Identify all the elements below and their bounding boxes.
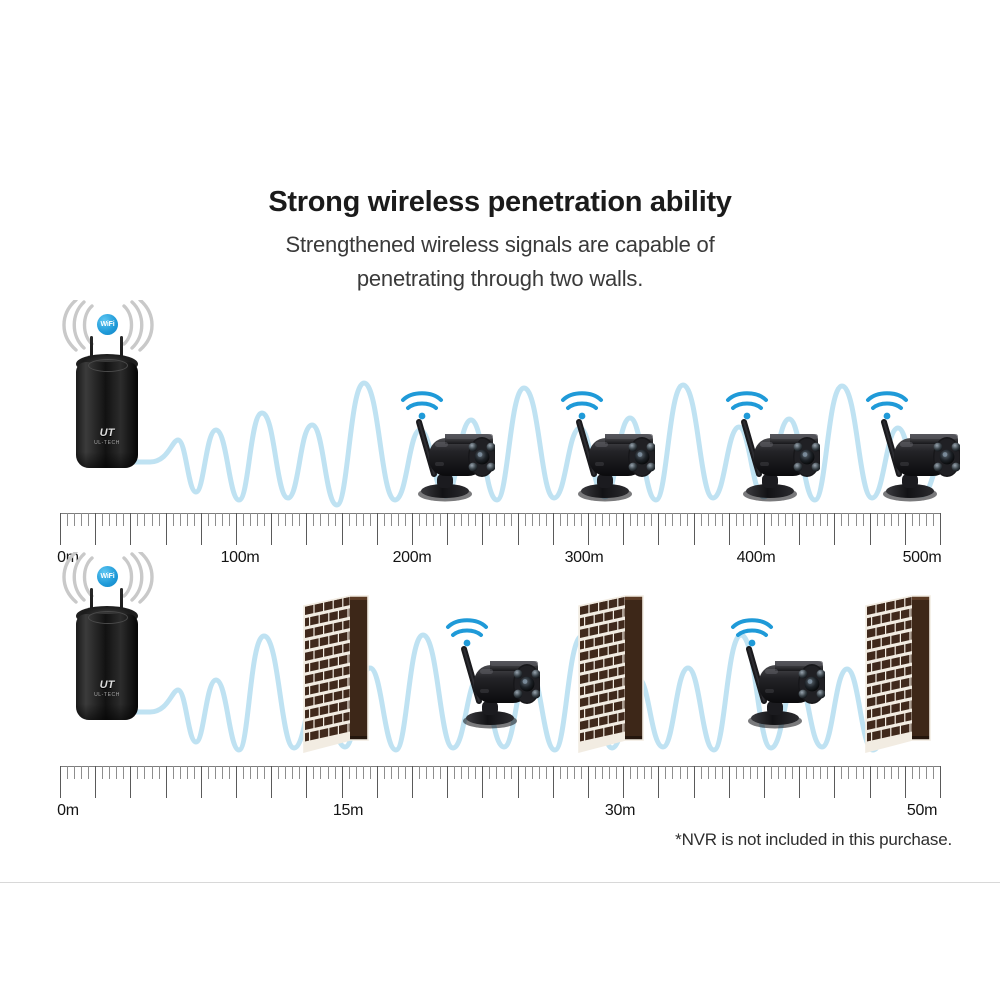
- ruler-tick-minor: [370, 766, 371, 779]
- ruler-rail: [60, 766, 940, 767]
- ruler-tick-minor: [88, 513, 89, 526]
- ruler-label: 0m: [57, 802, 79, 820]
- cameras-row2-layer: [0, 0, 1000, 1000]
- ruler-tick-minor: [264, 766, 265, 779]
- ruler-tick-minor: [778, 766, 779, 779]
- ruler-tick-minor: [257, 766, 258, 779]
- ruler-tick-minor: [637, 766, 638, 779]
- ruler-tick-minor: [102, 766, 103, 779]
- ruler-tick-minor: [665, 766, 666, 779]
- ruler-tick-minor: [806, 766, 807, 779]
- nvr-top-ring: [88, 359, 128, 372]
- ruler-tick-major: [553, 513, 554, 545]
- ruler-tick-minor: [841, 766, 842, 779]
- ruler-tick-minor: [637, 513, 638, 526]
- ruler-tick-minor: [137, 513, 138, 526]
- ruler-tick-minor: [567, 513, 568, 526]
- nvr-bottom-shadow: [76, 452, 138, 468]
- nvr-brand-sublabel: UL-TECH: [76, 440, 138, 446]
- ruler-tick-major: [940, 766, 941, 798]
- ruler-tick-minor: [806, 513, 807, 526]
- ruler-tick-minor: [574, 513, 575, 526]
- ruler-tick-minor: [926, 766, 927, 779]
- ruler-tick-minor: [827, 513, 828, 526]
- ruler-tick-minor: [926, 513, 927, 526]
- ruler-tick-minor: [187, 513, 188, 526]
- ruler-tick-minor: [848, 513, 849, 526]
- ruler-tick-minor: [701, 513, 702, 526]
- ruler-tick-minor: [229, 766, 230, 779]
- ruler-tick-minor: [229, 513, 230, 526]
- ruler-tick-minor: [194, 766, 195, 779]
- bottom-divider: [0, 882, 1000, 883]
- subtitle-line-2: penetrating through two walls.: [0, 262, 1000, 296]
- ruler-tick-minor: [496, 766, 497, 779]
- ruler-tick-minor: [856, 766, 857, 779]
- nvr-device-row1: WiFi UT UL-TECH: [58, 300, 158, 500]
- ruler-tick-minor: [187, 766, 188, 779]
- ruler-tick-minor: [919, 766, 920, 779]
- ruler-tick-minor: [680, 513, 681, 526]
- ruler-tick-minor: [88, 766, 89, 779]
- ruler-tick-minor: [152, 513, 153, 526]
- ruler-tick-minor: [475, 766, 476, 779]
- ruler-label: 200m: [393, 549, 432, 567]
- ruler-tick-minor: [222, 766, 223, 779]
- ruler-tick-major: [729, 513, 730, 545]
- ruler-tick-minor: [912, 513, 913, 526]
- wifi-badge: WiFi: [97, 314, 118, 335]
- ruler-tick-minor: [504, 766, 505, 779]
- ruler-tick-minor: [215, 766, 216, 779]
- ruler-tick-minor: [144, 513, 145, 526]
- ruler-tick-minor: [884, 766, 885, 779]
- ruler-tick-minor: [243, 766, 244, 779]
- ruler-tick-minor: [454, 766, 455, 779]
- ruler-tick-minor: [672, 766, 673, 779]
- ruler-tick-minor: [152, 766, 153, 779]
- ruler-tick-minor: [81, 766, 82, 779]
- ruler-tick-minor: [461, 766, 462, 779]
- ruler-tick-minor: [680, 766, 681, 779]
- ruler-tick-minor: [651, 513, 652, 526]
- ruler-tick-minor: [109, 766, 110, 779]
- ruler-tick-minor: [792, 766, 793, 779]
- ruler-tick-minor: [250, 513, 251, 526]
- ruler-tick-minor: [144, 766, 145, 779]
- ruler-tick-minor: [687, 766, 688, 779]
- ruler-tick-minor: [884, 513, 885, 526]
- ruler-tick-minor: [426, 513, 427, 526]
- ruler-tick-minor: [560, 513, 561, 526]
- ruler-label: 400m: [737, 549, 776, 567]
- ruler-tick-minor: [419, 513, 420, 526]
- ruler-tick-minor: [433, 766, 434, 779]
- ruler-tick-major: [482, 513, 483, 545]
- ruler-tick-minor: [665, 513, 666, 526]
- ruler-tick-minor: [616, 766, 617, 779]
- ruler-tick-major: [271, 513, 272, 545]
- ruler-tick-minor: [863, 513, 864, 526]
- ruler-tick-minor: [792, 513, 793, 526]
- ruler-tick-minor: [715, 513, 716, 526]
- ruler-tick-minor: [356, 513, 357, 526]
- ruler-tick-major: [940, 513, 941, 545]
- ruler-tick-minor: [898, 513, 899, 526]
- ruler-row2: 0m15m30m50m: [60, 766, 940, 826]
- ruler-tick-minor: [546, 766, 547, 779]
- ruler-tick-minor: [320, 766, 321, 779]
- ruler-tick-minor: [813, 513, 814, 526]
- ruler-tick-minor: [757, 766, 758, 779]
- ruler-tick-minor: [708, 513, 709, 526]
- ruler-tick-minor: [567, 766, 568, 779]
- ruler-tick-minor: [257, 513, 258, 526]
- ruler-tick-minor: [609, 513, 610, 526]
- ruler-tick-minor: [722, 513, 723, 526]
- nvr-device-row2: WiFi UT UL-TECH: [58, 552, 158, 752]
- ruler-tick-major: [236, 513, 237, 545]
- ruler-tick-minor: [841, 513, 842, 526]
- ruler-tick-minor: [102, 513, 103, 526]
- ruler-label: 30m: [605, 802, 635, 820]
- ruler-tick-minor: [440, 766, 441, 779]
- ruler-tick-minor: [328, 513, 329, 526]
- ruler-tick-minor: [180, 513, 181, 526]
- ruler-tick-major: [306, 766, 307, 798]
- ruler-tick-minor: [222, 513, 223, 526]
- ruler-tick-major: [588, 513, 589, 545]
- ruler-tick-minor: [208, 513, 209, 526]
- ruler-tick-minor: [827, 766, 828, 779]
- ruler-tick-minor: [863, 766, 864, 779]
- ruler-tick-minor: [820, 513, 821, 526]
- ruler-tick-minor: [933, 766, 934, 779]
- ruler-tick-minor: [672, 513, 673, 526]
- ruler-tick-minor: [370, 513, 371, 526]
- ruler-tick-minor: [475, 513, 476, 526]
- ruler-tick-minor: [328, 766, 329, 779]
- ruler-tick-minor: [532, 766, 533, 779]
- ruler-tick-minor: [595, 766, 596, 779]
- ruler-tick-minor: [159, 513, 160, 526]
- ruler-tick-minor: [736, 766, 737, 779]
- ruler-tick-major: [729, 766, 730, 798]
- ruler-tick-minor: [757, 513, 758, 526]
- ruler-tick-minor: [285, 766, 286, 779]
- ruler-tick-minor: [391, 766, 392, 779]
- ruler-tick-minor: [426, 766, 427, 779]
- ruler-tick-minor: [292, 766, 293, 779]
- ruler-tick-major: [588, 766, 589, 798]
- ruler-tick-minor: [609, 766, 610, 779]
- ruler-tick-major: [553, 766, 554, 798]
- ruler-tick-minor: [173, 513, 174, 526]
- ruler-tick-minor: [891, 766, 892, 779]
- ruler-tick-minor: [496, 513, 497, 526]
- ruler-tick-minor: [644, 513, 645, 526]
- ruler-tick-major: [236, 766, 237, 798]
- ruler-tick-minor: [173, 766, 174, 779]
- ruler-tick-minor: [116, 513, 117, 526]
- cameras-row1-layer: [0, 0, 1000, 1000]
- ruler-tick-major: [412, 766, 413, 798]
- ruler-tick-minor: [391, 513, 392, 526]
- ruler-tick-minor: [320, 513, 321, 526]
- ruler-tick-minor: [771, 766, 772, 779]
- ruler-tick-major: [412, 513, 413, 545]
- nvr-brand-logo: UT: [76, 680, 138, 691]
- ruler-tick-minor: [250, 766, 251, 779]
- ruler-tick-minor: [384, 513, 385, 526]
- ruler-tick-major: [482, 766, 483, 798]
- ruler-tick-major: [870, 766, 871, 798]
- ruler-tick-minor: [299, 766, 300, 779]
- ruler-tick-minor: [74, 766, 75, 779]
- ruler-tick-minor: [525, 513, 526, 526]
- ruler-tick-minor: [81, 513, 82, 526]
- ruler-tick-major: [130, 766, 131, 798]
- ruler-tick-major: [870, 513, 871, 545]
- ruler-tick-minor: [856, 513, 857, 526]
- ruler-tick-minor: [708, 766, 709, 779]
- ruler-tick-minor: [644, 766, 645, 779]
- ruler-tick-minor: [433, 513, 434, 526]
- ruler-tick-minor: [701, 766, 702, 779]
- ruler-tick-major: [271, 766, 272, 798]
- ruler-tick-major: [834, 766, 835, 798]
- ruler-tick-minor: [820, 766, 821, 779]
- ruler-tick-minor: [180, 766, 181, 779]
- ruler-tick-minor: [67, 513, 68, 526]
- ruler-tick-minor: [602, 766, 603, 779]
- ruler-tick-minor: [891, 513, 892, 526]
- ruler-tick-minor: [933, 513, 934, 526]
- ruler-tick-minor: [560, 766, 561, 779]
- nvr-top-ring: [88, 611, 128, 624]
- wifi-badge: WiFi: [97, 566, 118, 587]
- ruler-rail: [60, 513, 940, 514]
- ruler-tick-major: [342, 766, 343, 798]
- ruler-tick-minor: [525, 766, 526, 779]
- ruler-tick-major: [518, 766, 519, 798]
- ruler-tick-minor: [743, 766, 744, 779]
- ruler-tick-minor: [489, 766, 490, 779]
- ruler-tick-minor: [243, 513, 244, 526]
- ruler-tick-minor: [461, 513, 462, 526]
- ruler-tick-minor: [489, 513, 490, 526]
- ruler-tick-major: [694, 766, 695, 798]
- ruler-row1: 0m100m200m300m400m500m: [60, 513, 940, 573]
- ruler-tick-minor: [159, 766, 160, 779]
- heading-block: Strong wireless penetration ability Stre…: [0, 182, 1000, 296]
- ruler-label: 300m: [565, 549, 604, 567]
- ruler-tick-minor: [504, 513, 505, 526]
- ruler-tick-minor: [363, 513, 364, 526]
- ruler-tick-major: [166, 513, 167, 545]
- ruler-tick-major: [447, 513, 448, 545]
- ruler-tick-major: [377, 766, 378, 798]
- ruler-tick-major: [342, 513, 343, 545]
- ruler-tick-major: [518, 513, 519, 545]
- ruler-tick-minor: [335, 766, 336, 779]
- ruler-tick-minor: [454, 513, 455, 526]
- nvr-brand-sublabel: UL-TECH: [76, 692, 138, 698]
- ruler-tick-minor: [581, 513, 582, 526]
- ruler-tick-minor: [785, 513, 786, 526]
- ruler-label: 500m: [903, 549, 942, 567]
- ruler-tick-minor: [616, 513, 617, 526]
- ruler-tick-minor: [602, 513, 603, 526]
- ruler-tick-minor: [419, 766, 420, 779]
- ruler-tick-minor: [468, 766, 469, 779]
- ruler-tick-minor: [67, 766, 68, 779]
- ruler-label: 50m: [907, 802, 937, 820]
- ruler-tick-minor: [109, 513, 110, 526]
- ruler-tick-minor: [278, 766, 279, 779]
- ruler-tick-minor: [405, 766, 406, 779]
- ruler-tick-minor: [511, 513, 512, 526]
- ruler-tick-minor: [919, 513, 920, 526]
- ruler-tick-minor: [877, 766, 878, 779]
- page-subtitle: Strengthened wireless signals are capabl…: [0, 228, 1000, 296]
- ruler-tick-minor: [123, 513, 124, 526]
- ruler-tick-minor: [574, 766, 575, 779]
- ruler-tick-major: [658, 513, 659, 545]
- footnote-text: *NVR is not included in this purchase.: [675, 830, 952, 850]
- ruler-tick-major: [60, 766, 61, 798]
- ruler-tick-minor: [292, 513, 293, 526]
- ruler-tick-minor: [743, 513, 744, 526]
- ruler-tick-minor: [778, 513, 779, 526]
- ruler-tick-minor: [313, 513, 314, 526]
- ruler-tick-major: [95, 513, 96, 545]
- ruler-tick-minor: [785, 766, 786, 779]
- ruler-tick-minor: [581, 766, 582, 779]
- ruler-tick-minor: [651, 766, 652, 779]
- ruler-tick-minor: [208, 766, 209, 779]
- ruler-tick-minor: [687, 513, 688, 526]
- ruler-tick-major: [201, 766, 202, 798]
- ruler-tick-major: [764, 766, 765, 798]
- ruler-tick-minor: [335, 513, 336, 526]
- page-title: Strong wireless penetration ability: [0, 182, 1000, 222]
- ruler-tick-major: [799, 766, 800, 798]
- ruler-tick-major: [799, 513, 800, 545]
- ruler-tick-major: [447, 766, 448, 798]
- ruler-tick-major: [306, 513, 307, 545]
- ruler-tick-minor: [384, 766, 385, 779]
- ruler-tick-minor: [116, 766, 117, 779]
- signal-wave-row1: [0, 0, 1000, 1000]
- ruler-tick-minor: [532, 513, 533, 526]
- ruler-tick-minor: [349, 513, 350, 526]
- ruler-tick-major: [905, 513, 906, 545]
- ruler-tick-minor: [877, 513, 878, 526]
- ruler-tick-minor: [398, 766, 399, 779]
- ruler-tick-major: [764, 513, 765, 545]
- ruler-tick-minor: [813, 766, 814, 779]
- ruler-tick-minor: [511, 766, 512, 779]
- ruler-tick-minor: [405, 513, 406, 526]
- nvr-bottom-shadow: [76, 704, 138, 720]
- ruler-tick-minor: [313, 766, 314, 779]
- ruler-tick-minor: [898, 766, 899, 779]
- infographic-stage: Strong wireless penetration ability Stre…: [0, 0, 1000, 1000]
- ruler-tick-minor: [194, 513, 195, 526]
- ruler-tick-major: [60, 513, 61, 545]
- ruler-tick-major: [377, 513, 378, 545]
- ruler-tick-major: [623, 513, 624, 545]
- ruler-tick-minor: [722, 766, 723, 779]
- ruler-tick-minor: [285, 513, 286, 526]
- ruler-tick-minor: [264, 513, 265, 526]
- ruler-tick-minor: [736, 513, 737, 526]
- ruler-label: 100m: [221, 549, 260, 567]
- ruler-tick-minor: [398, 513, 399, 526]
- ruler-tick-minor: [912, 766, 913, 779]
- ruler-tick-major: [95, 766, 96, 798]
- ruler-tick-major: [201, 513, 202, 545]
- ruler-tick-minor: [468, 513, 469, 526]
- ruler-tick-major: [834, 513, 835, 545]
- ruler-tick-minor: [630, 513, 631, 526]
- ruler-tick-minor: [771, 513, 772, 526]
- ruler-tick-major: [658, 766, 659, 798]
- ruler-tick-minor: [595, 513, 596, 526]
- ruler-tick-minor: [123, 766, 124, 779]
- ruler-tick-minor: [278, 513, 279, 526]
- ruler-tick-minor: [750, 766, 751, 779]
- ruler-tick-minor: [299, 513, 300, 526]
- ruler-tick-minor: [349, 766, 350, 779]
- brick-walls-layer: [0, 0, 1000, 1000]
- subtitle-line-1: Strengthened wireless signals are capabl…: [0, 228, 1000, 262]
- ruler-tick-minor: [750, 513, 751, 526]
- signal-wave-row2: [0, 0, 1000, 1000]
- ruler-tick-major: [166, 766, 167, 798]
- ruler-tick-minor: [630, 766, 631, 779]
- ruler-tick-major: [694, 513, 695, 545]
- ruler-tick-minor: [363, 766, 364, 779]
- ruler-tick-minor: [74, 513, 75, 526]
- ruler-tick-minor: [848, 766, 849, 779]
- nvr-brand-logo: UT: [76, 428, 138, 439]
- ruler-label: 15m: [333, 802, 363, 820]
- ruler-tick-minor: [440, 513, 441, 526]
- ruler-tick-minor: [137, 766, 138, 779]
- ruler-tick-minor: [546, 513, 547, 526]
- ruler-tick-major: [905, 766, 906, 798]
- ruler-tick-minor: [539, 513, 540, 526]
- ruler-tick-minor: [715, 766, 716, 779]
- ruler-tick-major: [130, 513, 131, 545]
- ruler-tick-minor: [215, 513, 216, 526]
- ruler-tick-minor: [539, 766, 540, 779]
- ruler-tick-minor: [356, 766, 357, 779]
- ruler-tick-major: [623, 766, 624, 798]
